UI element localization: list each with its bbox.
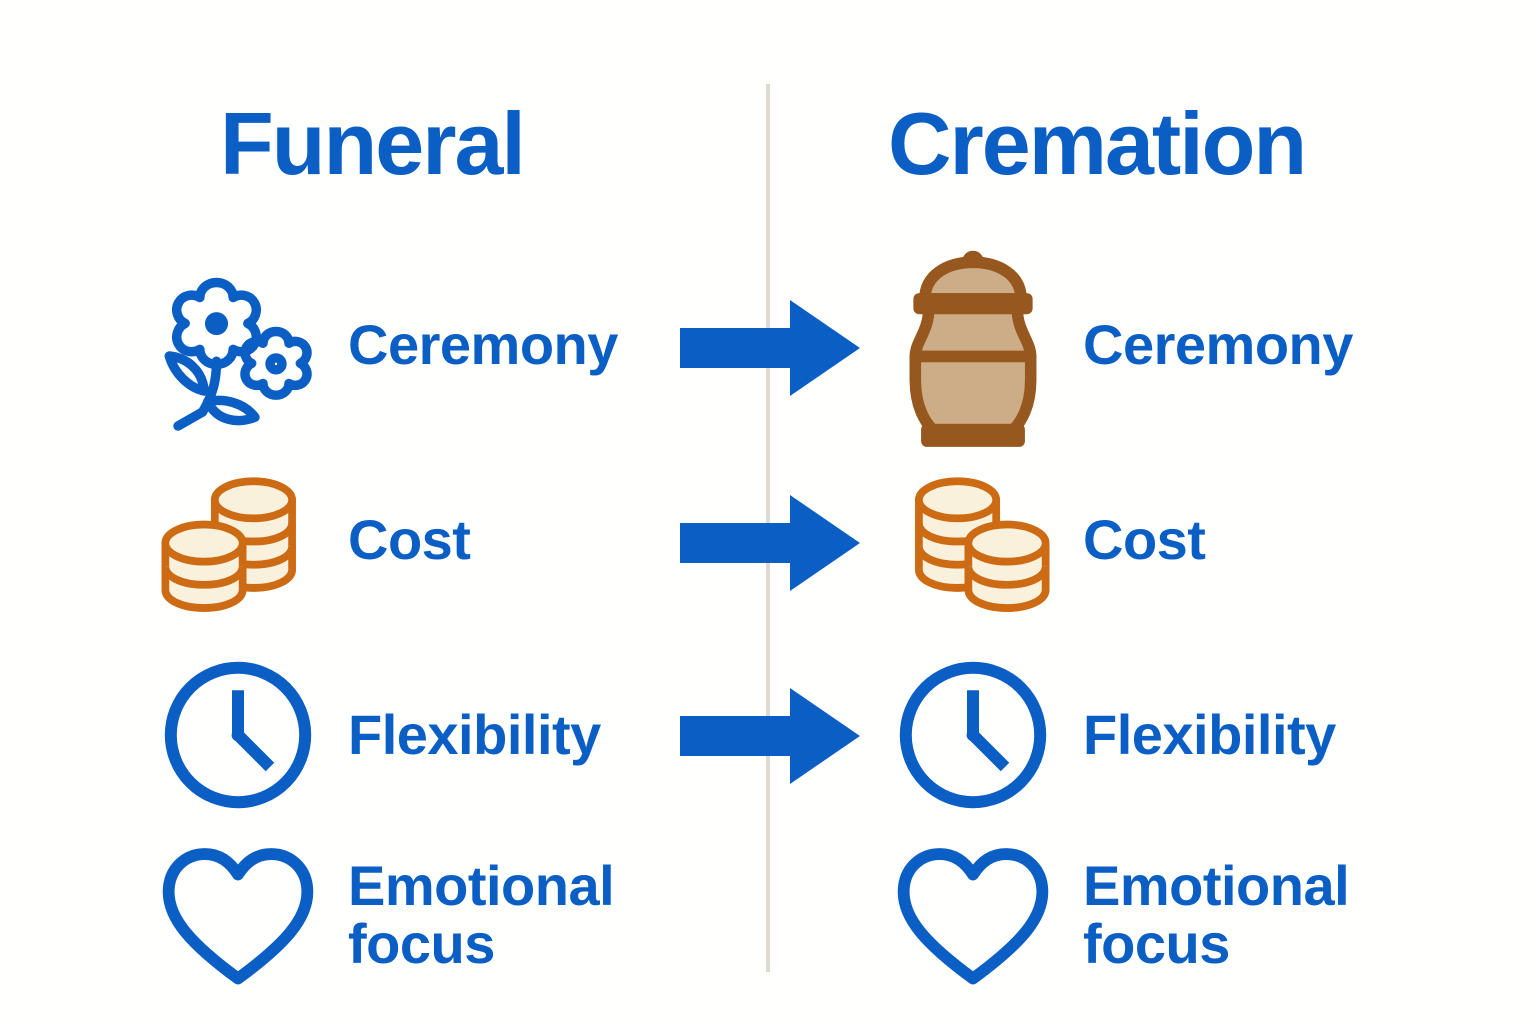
row-label: Emotional focus — [1083, 857, 1349, 973]
row-cremation-flexibility: Flexibility — [880, 645, 1440, 825]
row-label: Ceremony — [348, 316, 618, 374]
row-label: Ceremony — [1083, 316, 1353, 374]
arrow-ceremony — [680, 300, 860, 396]
row-funeral-ceremony: Ceremony — [145, 255, 705, 435]
row-cremation-ceremony: Ceremony — [880, 255, 1440, 435]
row-label: Cost — [1083, 511, 1205, 569]
urn-icon — [880, 258, 1065, 433]
row-funeral-flexibility: Flexibility — [145, 645, 705, 825]
heart-icon — [145, 828, 330, 1003]
clock-icon — [880, 648, 1065, 823]
row-cremation-cost: Cost — [880, 450, 1440, 630]
row-label: Flexibility — [1083, 706, 1336, 764]
coins-icon — [880, 453, 1065, 628]
row-funeral-emotional-focus: Emotional focus — [145, 825, 705, 1005]
column-title-cremation: Cremation — [888, 100, 1305, 188]
row-label: Emotional focus — [348, 857, 614, 973]
row-label: Flexibility — [348, 706, 601, 764]
row-funeral-cost: Cost — [145, 450, 705, 630]
coins-icon — [145, 453, 330, 628]
heart-icon — [880, 828, 1065, 1003]
arrow-flexibility — [680, 688, 860, 784]
comparison-diagram: Funeral Cremation Ceremony — [0, 0, 1536, 1024]
flowers-icon — [145, 258, 330, 433]
column-title-funeral: Funeral — [220, 100, 524, 188]
row-label: Cost — [348, 511, 470, 569]
arrow-cost — [680, 495, 860, 591]
row-cremation-emotional-focus: Emotional focus — [880, 825, 1440, 1005]
clock-icon — [145, 648, 330, 823]
